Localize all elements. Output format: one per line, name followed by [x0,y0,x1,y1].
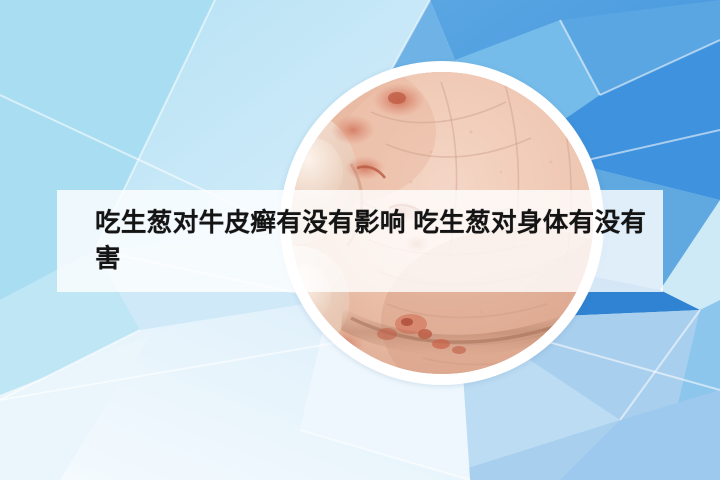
lesion-core-top [388,92,406,104]
lesion-patch-bottom-left [321,330,365,358]
lesion-patch-upper-left [331,115,375,145]
thumbnail-canvas: 吃生葱对牛皮癣有没有影响 吃生葱对身体有没有害 [0,0,720,480]
caption-title: 吃生葱对牛皮癣有没有影响 吃生葱对身体有没有害 [95,205,655,277]
